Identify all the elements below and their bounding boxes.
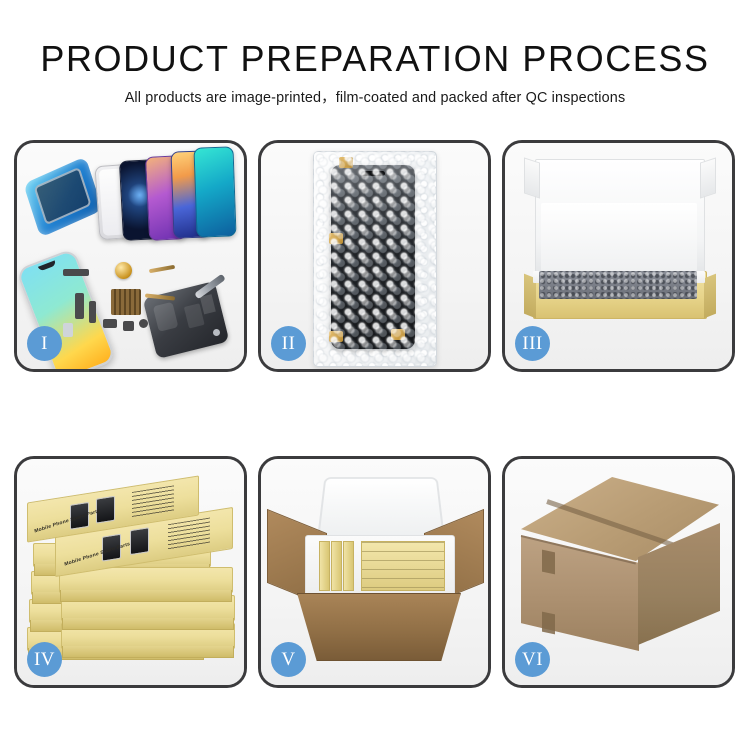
- process-step-1[interactable]: I: [14, 140, 247, 372]
- step-badge-3: III: [515, 326, 550, 361]
- bracket-part: [89, 301, 96, 323]
- vibrator-part: [123, 321, 134, 331]
- process-step-5[interactable]: V: [258, 456, 491, 688]
- step-badge-4: IV: [27, 642, 62, 677]
- page-header: PRODUCT PREPARATION PROCESS All products…: [0, 0, 750, 108]
- chip-board-part: [111, 289, 141, 315]
- button-part: [139, 319, 148, 328]
- yellow-box-v1: [319, 541, 330, 591]
- step-badge-1: I: [27, 326, 62, 361]
- screwdriver-tool: [194, 274, 226, 300]
- tape-bottom-right: [391, 329, 405, 340]
- grey-foam-padding: [539, 271, 697, 299]
- speaker-mesh-part: [115, 262, 132, 279]
- box-label-text-left: Mobile Phone Spare Parts: [34, 508, 101, 535]
- flex-strip-part: [75, 293, 84, 319]
- process-steps-grid: I II III: [14, 140, 736, 688]
- step-badge-5: V: [271, 642, 306, 677]
- carton-tape-upper: [542, 550, 555, 575]
- tape-top: [339, 157, 353, 168]
- carton-tape-lower: [542, 612, 555, 635]
- box-print-text-block-2: [132, 485, 174, 518]
- step-badge-6: VI: [515, 642, 550, 677]
- foam-box-lid: [317, 477, 445, 538]
- yellow-box-v3: [343, 541, 354, 591]
- tape-middle: [329, 233, 343, 244]
- earpiece-part: [63, 269, 89, 276]
- master-carton-body: [297, 593, 461, 661]
- retail-box-stack: Mobile Phone Spare Parts Mobile Phone Sp…: [25, 473, 239, 675]
- box-print-text-block: [168, 518, 210, 551]
- sim-tray-part: [63, 323, 73, 337]
- process-step-6[interactable]: VI: [502, 456, 735, 688]
- process-step-2[interactable]: II: [258, 140, 491, 372]
- flex-cable-part-a: [149, 265, 175, 273]
- process-step-4[interactable]: Mobile Phone Spare Parts Mobile Phone Sp…: [14, 456, 247, 688]
- white-foam-sheet: [541, 203, 697, 271]
- camera-part: [103, 319, 117, 328]
- yellow-boxes-stacked: [361, 541, 445, 591]
- process-step-3[interactable]: III: [502, 140, 735, 372]
- page-subtitle: All products are image-printed，film-coat…: [0, 88, 750, 108]
- screw-part: [213, 329, 220, 336]
- page-title: PRODUCT PREPARATION PROCESS: [0, 38, 750, 80]
- tape-bottom-left: [329, 331, 343, 342]
- box-print-screen-b: [130, 527, 149, 555]
- yellow-box-v2: [331, 541, 342, 591]
- screen-flex-cable: [364, 239, 374, 335]
- flex-cable-part-b: [145, 293, 175, 300]
- step-badge-2: II: [271, 326, 306, 361]
